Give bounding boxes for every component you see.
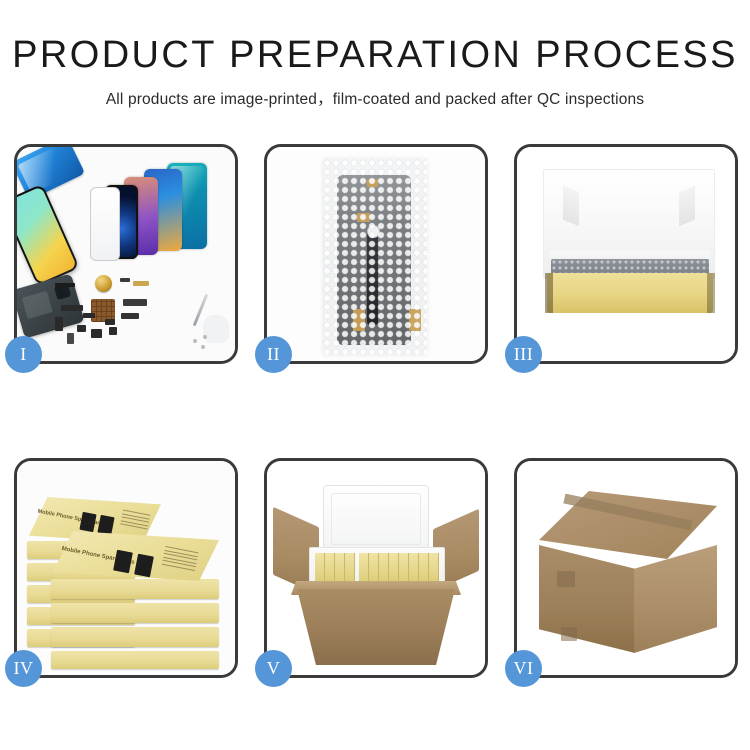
screw-1 bbox=[193, 339, 197, 343]
hand bbox=[203, 315, 229, 343]
packed-box-5 bbox=[359, 553, 369, 583]
carton-tab-2 bbox=[561, 627, 577, 641]
packed-box-3 bbox=[335, 553, 345, 583]
screw-3 bbox=[203, 335, 207, 339]
part-strip-2 bbox=[120, 278, 130, 282]
process-step-panel-6[interactable]: VI bbox=[514, 458, 738, 678]
process-step-panel-2[interactable]: II bbox=[264, 144, 488, 364]
process-step-panel-3[interactable]: III bbox=[514, 144, 738, 364]
stacked-box-f2 bbox=[51, 603, 219, 623]
process-step-panel-1[interactable]: I bbox=[14, 144, 238, 364]
small-part-6 bbox=[83, 313, 95, 318]
process-step-panel-4[interactable]: Mobile Phone Spare Parts Mobile Phone Sp… bbox=[14, 458, 238, 678]
step-badge-5: V bbox=[255, 650, 292, 687]
box-stack: Mobile Phone Spare Parts Mobile Phone Sp… bbox=[23, 475, 233, 667]
small-part-2 bbox=[91, 329, 102, 338]
packed-box-7 bbox=[379, 553, 389, 583]
step-5-image bbox=[267, 461, 485, 675]
bubble-texture bbox=[323, 159, 427, 355]
screw-2 bbox=[201, 345, 205, 349]
carton-body bbox=[297, 589, 455, 665]
carton-tab-1 bbox=[557, 571, 575, 587]
flex-cable-1 bbox=[61, 305, 83, 311]
packed-box-4 bbox=[345, 553, 355, 583]
phone-yellow-display bbox=[17, 184, 80, 287]
step-2-image bbox=[267, 147, 485, 361]
step-badge-1: I bbox=[5, 336, 42, 373]
process-step-grid: I II III bbox=[14, 144, 738, 678]
flex-cable-4 bbox=[121, 313, 139, 319]
step-badge-6: VI bbox=[505, 650, 542, 687]
page-subtitle: All products are image-printed，film-coat… bbox=[0, 87, 750, 109]
page-title: PRODUCT PREPARATION PROCESS bbox=[0, 36, 750, 76]
part-strip-1 bbox=[55, 283, 75, 287]
packed-box-12 bbox=[429, 553, 439, 583]
step-3-image bbox=[517, 147, 735, 361]
small-part-1 bbox=[77, 325, 86, 332]
small-part-4 bbox=[67, 333, 74, 344]
bubble-wrap-bag bbox=[323, 159, 427, 355]
tempered-glass-film bbox=[90, 187, 120, 261]
flex-cable-2 bbox=[55, 317, 63, 331]
stacked-box-f4 bbox=[51, 651, 219, 669]
packed-box-1 bbox=[315, 553, 325, 583]
packed-box-9 bbox=[399, 553, 409, 583]
packed-box-10 bbox=[409, 553, 419, 583]
flex-cable-gold bbox=[133, 281, 149, 286]
lid-flap-left bbox=[563, 186, 579, 226]
flex-cable-3 bbox=[123, 299, 147, 306]
step-1-image bbox=[17, 147, 235, 361]
stacked-box-f3 bbox=[51, 627, 219, 647]
foam-lid bbox=[323, 485, 429, 553]
packed-box-6 bbox=[369, 553, 379, 583]
step-badge-3: III bbox=[505, 336, 542, 373]
step-badge-4: IV bbox=[5, 650, 42, 687]
small-part-5 bbox=[105, 319, 115, 325]
packed-box-8 bbox=[389, 553, 399, 583]
process-step-panel-5[interactable]: V bbox=[264, 458, 488, 678]
small-part-3 bbox=[109, 327, 117, 335]
carton-left-face bbox=[539, 545, 635, 653]
stacked-box-f1 bbox=[51, 579, 219, 599]
yellow-box-row bbox=[315, 553, 437, 583]
packed-box-2 bbox=[325, 553, 335, 583]
packed-box-11 bbox=[419, 553, 429, 583]
gold-coil-part bbox=[95, 275, 112, 292]
kraft-box-front bbox=[547, 273, 713, 313]
carton-right-face bbox=[634, 545, 717, 653]
step-6-image bbox=[517, 461, 735, 675]
step-badge-2: II bbox=[255, 336, 292, 373]
step-4-image: Mobile Phone Spare Parts Mobile Phone Sp… bbox=[17, 461, 235, 675]
lid-flap-right bbox=[679, 186, 695, 226]
page-header: PRODUCT PREPARATION PROCESS All products… bbox=[0, 0, 750, 109]
